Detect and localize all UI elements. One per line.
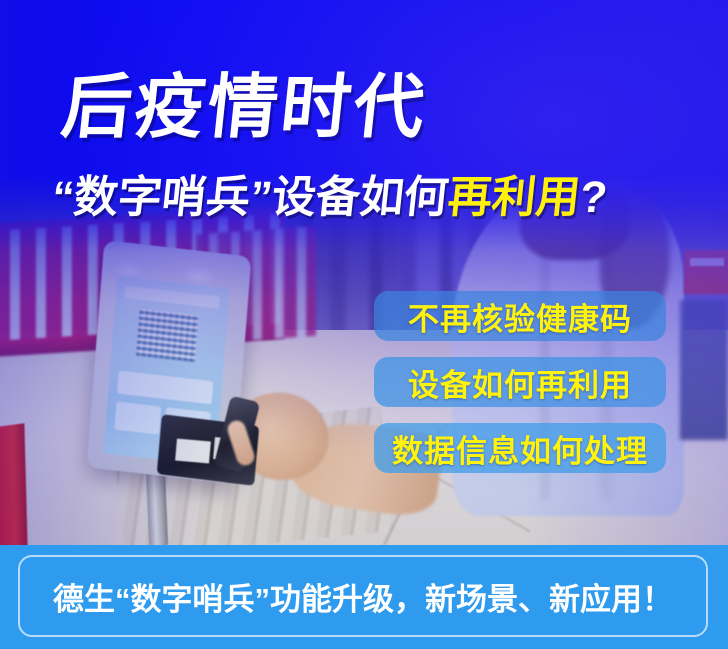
highlight-pill-3-label: 数据信息如何处理 xyxy=(392,426,648,471)
highlight-pill-1[interactable]: 不再核验健康码 xyxy=(374,291,666,341)
highlight-pill-2-label: 设备如何再利用 xyxy=(408,360,632,405)
bottom-banner-frame: 德生“数字哨兵”功能升级，新场景、新应用！ xyxy=(18,555,708,637)
subtitle-prefix: “数字哨兵”设备如何 xyxy=(49,173,450,222)
poster-root: 后疫情时代 “数字哨兵”设备如何再利用? 不再核验健康码 设备如何再利用 数据信… xyxy=(0,0,728,649)
highlight-pill-3[interactable]: 数据信息如何处理 xyxy=(374,423,666,473)
page-subtitle: “数字哨兵”设备如何再利用? xyxy=(50,176,610,220)
page-title: 后疫情时代 xyxy=(58,72,430,142)
highlight-pill-2[interactable]: 设备如何再利用 xyxy=(374,357,666,407)
subtitle-suffix: ? xyxy=(577,173,609,222)
subtitle-highlight: 再利用 xyxy=(445,173,582,222)
bottom-banner-text: 德生“数字哨兵”功能升级，新场景、新应用！ xyxy=(53,574,673,619)
highlight-pill-1-label: 不再核验健康码 xyxy=(408,294,632,339)
bottom-banner: 德生“数字哨兵”功能升级，新场景、新应用！ xyxy=(0,545,728,649)
